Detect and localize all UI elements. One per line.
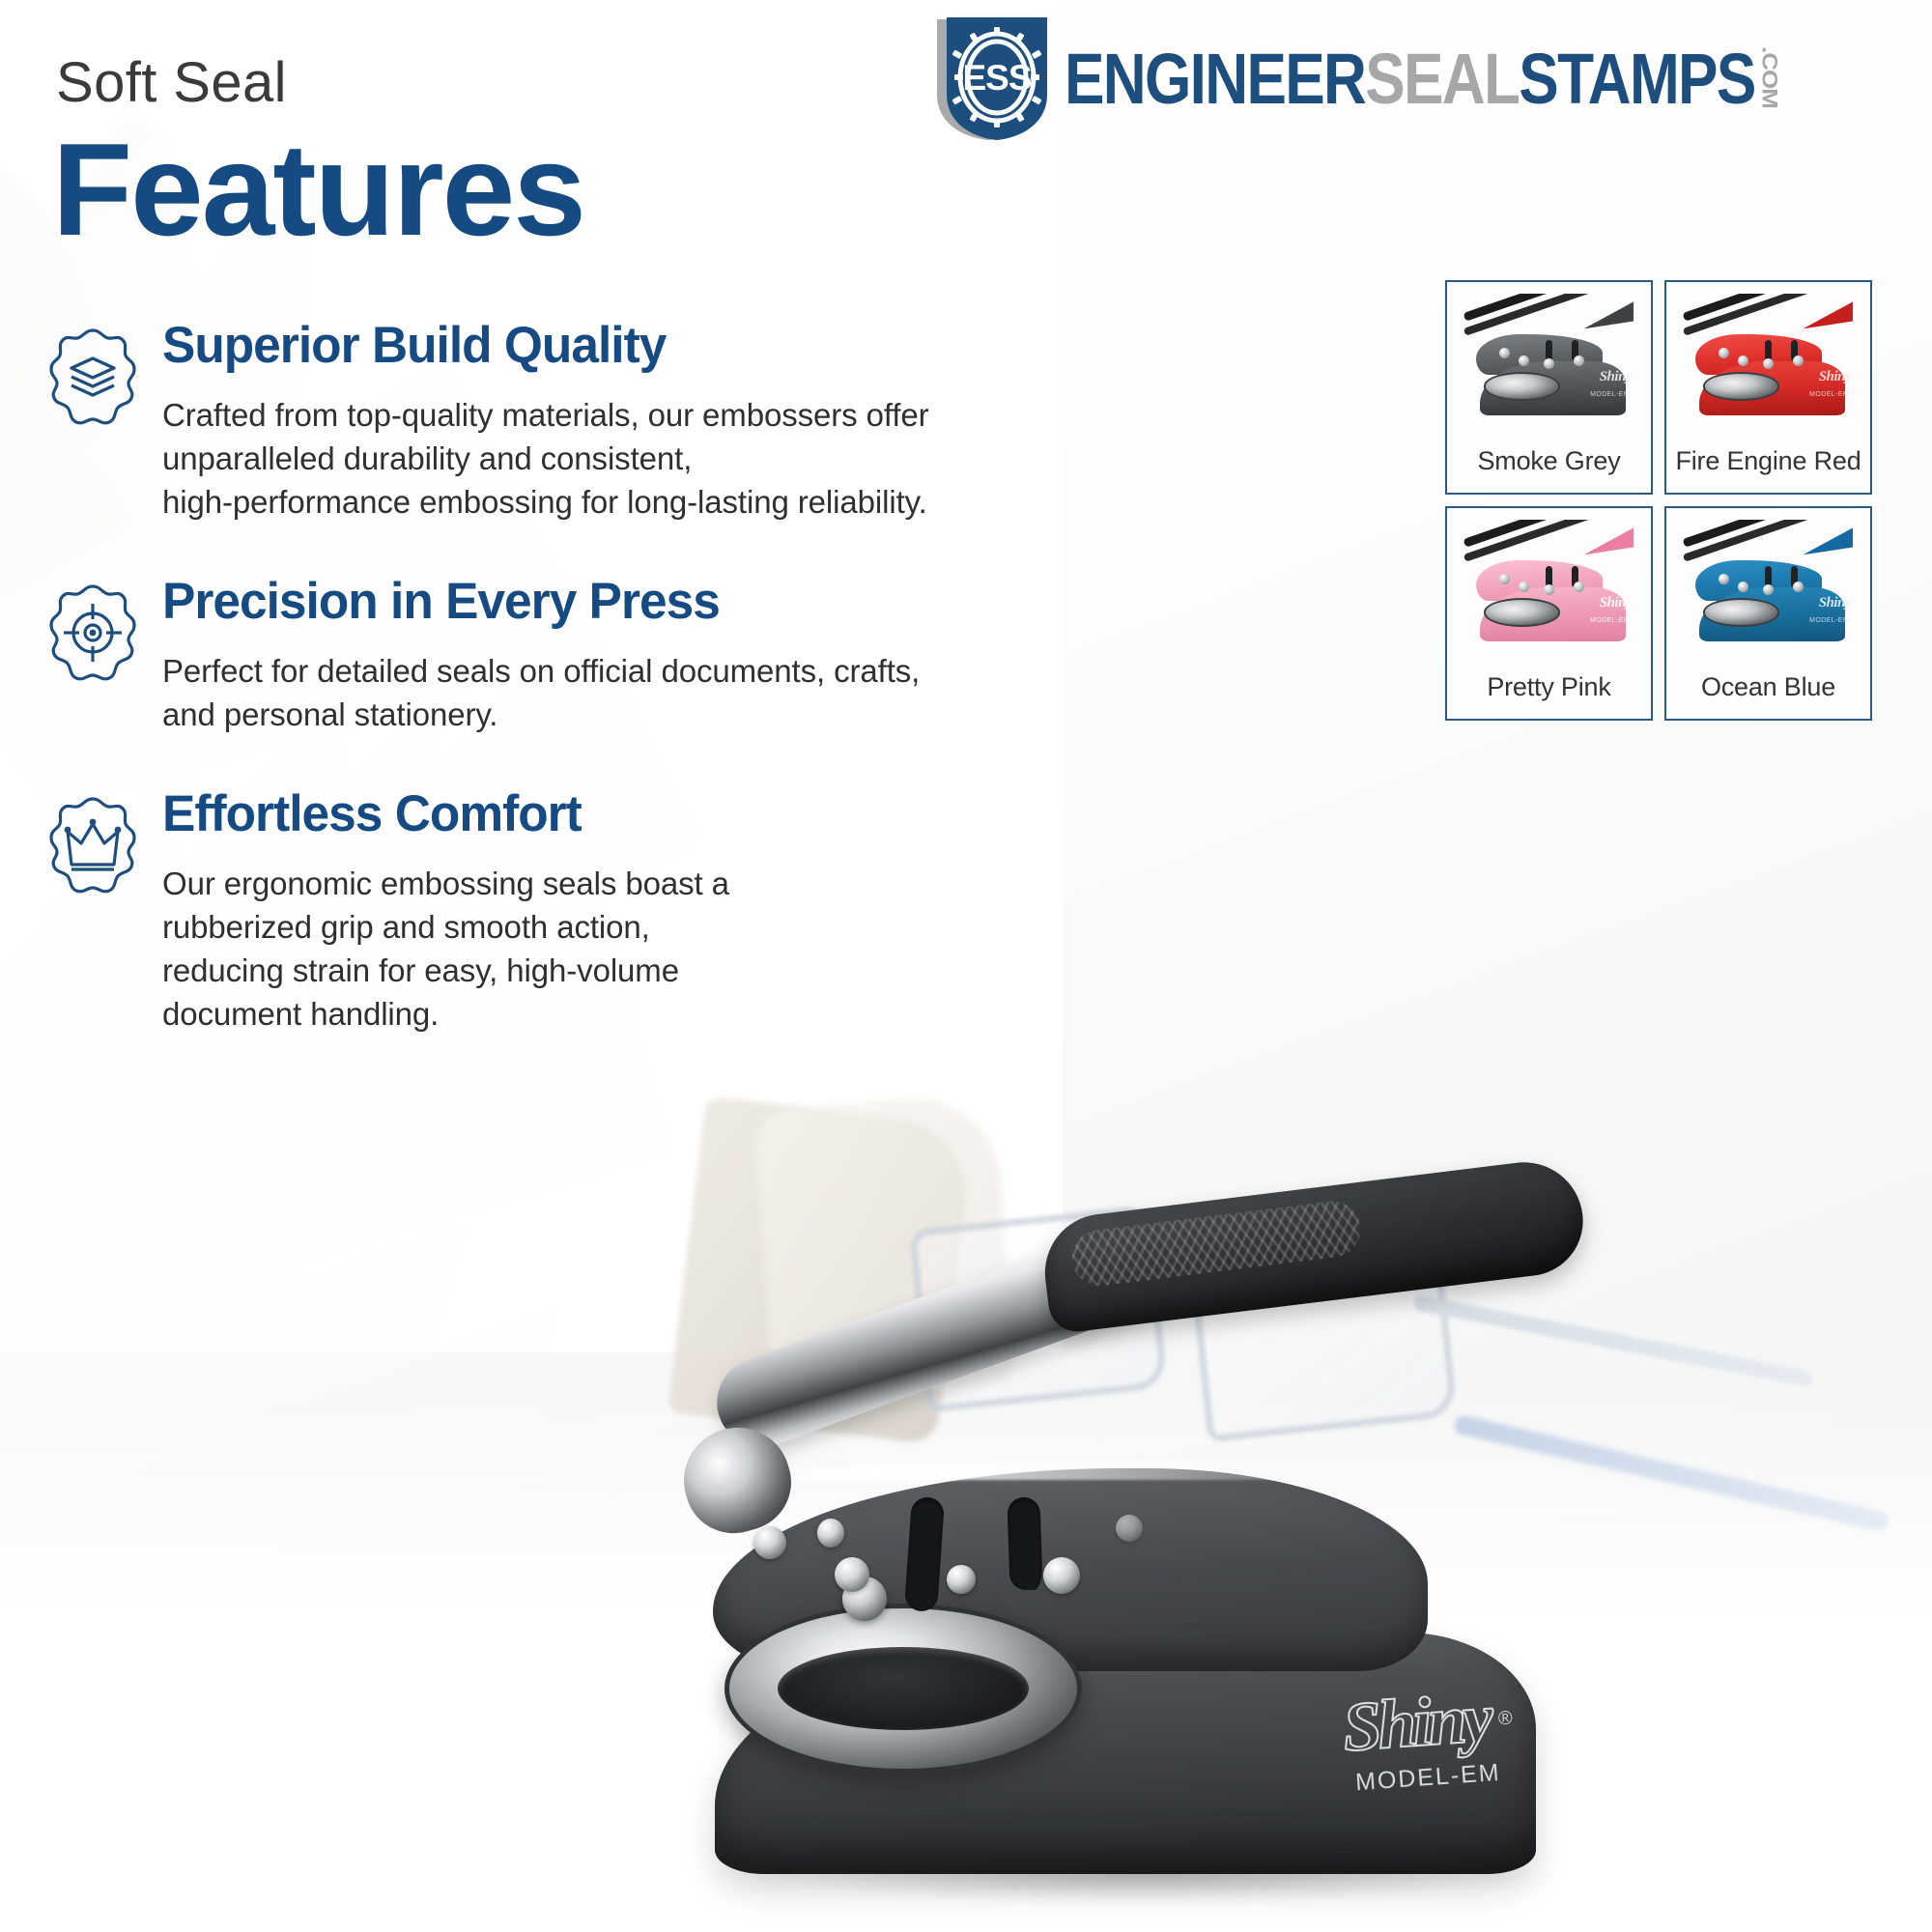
ess-shield-icon: ESS: [923, 14, 1051, 144]
brand-wordmark: ENGINEER SEAL STAMPS .COM: [1065, 46, 1778, 112]
page-header: Soft Seal Features: [0, 0, 1932, 280]
embosser-rivet: [1043, 1557, 1080, 1594]
shiny-brand-script: Shiny: [1340, 1678, 1492, 1768]
color-swatch-fire-engine-red[interactable]: Shiny MODEL-EM Fire Engine Red: [1664, 280, 1872, 495]
feature-description-line: Our ergonomic embossing seals boast a: [162, 863, 1012, 906]
svg-text:ESS: ESS: [962, 58, 1031, 98]
crown-icon: [46, 795, 139, 901]
feature-description-line: unparalleled durability and consistent,: [162, 438, 1012, 481]
feature-title: Superior Build Quality: [162, 319, 998, 373]
color-swatch-smoke-grey[interactable]: Shiny MODEL-EM Smoke Grey: [1445, 280, 1653, 495]
color-swatch-pretty-pink[interactable]: Shiny MODEL-EM Pretty Pink: [1445, 506, 1653, 721]
wordmark-seal: SEAL: [1365, 47, 1519, 112]
page-title: Features: [52, 124, 584, 255]
feature-description-line: rubberized grip and smooth action,: [162, 906, 1012, 950]
color-swatch-label: Ocean Blue: [1701, 655, 1835, 719]
hero-product-photo: Shiny ® MODEL-EM: [618, 966, 1932, 1932]
page-kicker: Soft Seal: [56, 50, 287, 115]
embosser-thumbnail: Shiny MODEL-EM: [1453, 520, 1645, 655]
registered-trademark-icon: ®: [1497, 1708, 1513, 1731]
embosser-rivet: [817, 1519, 844, 1548]
embosser-rubber-handle: [1038, 1155, 1589, 1334]
feature-description: Perfect for detailed seals on official d…: [162, 650, 1012, 737]
embosser-thumbnail: Shiny MODEL-EM: [1672, 520, 1864, 655]
color-swatch-label: Smoke Grey: [1477, 429, 1620, 493]
feature-title: Precision in Every Press: [162, 575, 998, 629]
wordmark-engineer: ENGINEER: [1065, 47, 1365, 112]
embosser-rivet: [835, 1557, 869, 1592]
embosser-slot: [1007, 1496, 1042, 1590]
embosser-rivet: [1116, 1515, 1143, 1542]
feature-description-line: Crafted from top-quality materials, our …: [162, 394, 1012, 438]
feature-description-line: Perfect for detailed seals on official d…: [162, 650, 1012, 694]
feature-title: Effortless Comfort: [162, 787, 998, 841]
stacked-layers-icon: [46, 327, 139, 433]
color-swatch-label: Pretty Pink: [1487, 655, 1610, 719]
crosshair-target-icon: [46, 582, 139, 689]
wordmark-stamps: STAMPS: [1519, 47, 1754, 112]
color-swatch-ocean-blue[interactable]: Shiny MODEL-EM Ocean Blue: [1664, 506, 1872, 721]
embosser-thumbnail: Shiny MODEL-EM: [1672, 294, 1864, 429]
embosser-thumbnail: Shiny MODEL-EM: [1453, 294, 1645, 429]
color-options-grid: Shiny MODEL-EM Smoke Grey Shiny M: [1445, 280, 1872, 721]
feature-description: Crafted from top-quality materials, our …: [162, 394, 1012, 525]
feature-description-line: high-performance embossing for long-last…: [162, 481, 1012, 525]
color-swatch-label: Fire Engine Red: [1675, 429, 1861, 493]
wordmark-dotcom: .COM: [1760, 46, 1779, 108]
embosser-product: Shiny ® MODEL-EM: [628, 1179, 1594, 1893]
embosser-rivet: [753, 1526, 786, 1559]
embosser-die-wheel: [724, 1604, 1082, 1774]
feature-item: Superior Build Quality Crafted from top-…: [0, 319, 1024, 525]
brand-logo[interactable]: ESS ENGINEER SEAL STAMPS .COM: [923, 14, 1915, 144]
embosser-rivet: [947, 1565, 976, 1594]
feature-description-line: and personal stationery.: [162, 694, 1012, 737]
feature-item: Precision in Every Press Perfect for det…: [0, 575, 1024, 737]
